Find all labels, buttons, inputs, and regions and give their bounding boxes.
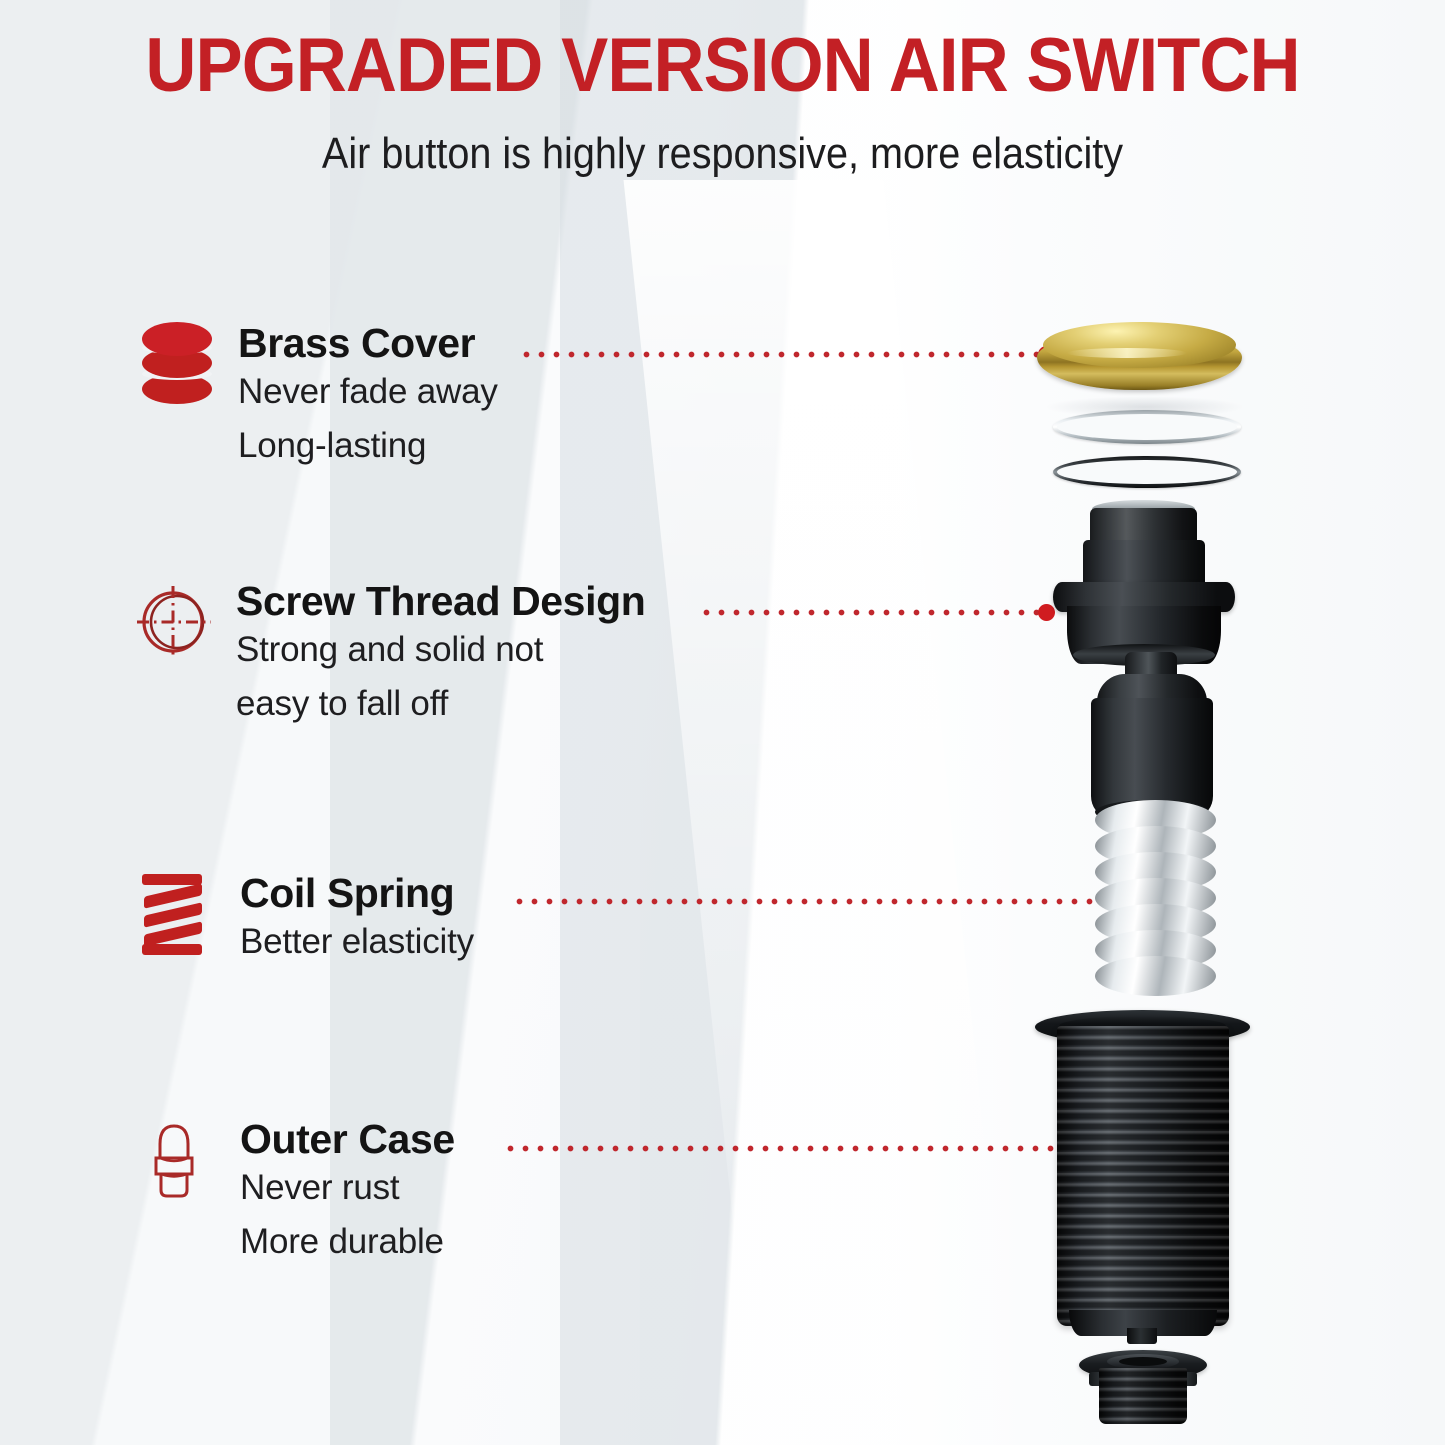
- brass-cover-highlight: [1067, 348, 1187, 358]
- disc-stack-icon: [138, 322, 216, 406]
- silver-washer-ring-part: [1053, 410, 1241, 444]
- bottom-thread-nut-shank: [1099, 1368, 1187, 1424]
- background-light-beam: [624, 180, 1017, 1445]
- feature-title: Brass Cover: [238, 322, 498, 365]
- leader-line-outer-case: [503, 1144, 1068, 1153]
- leader-line-brass-cover: [519, 350, 1044, 359]
- leader-line-screw-thread: [699, 608, 1044, 617]
- dark-gasket-ring-part: [1053, 456, 1241, 488]
- feature-line: Strong and solid not: [236, 623, 645, 677]
- page-title: UPGRADED VERSION AIR SWITCH: [51, 26, 1395, 106]
- infographic-page: UPGRADED VERSION AIR SWITCH Air button i…: [0, 0, 1445, 1445]
- screw-nut-body: [1083, 540, 1205, 588]
- feature-line: More durable: [240, 1215, 455, 1269]
- feature-line: Long-lasting: [238, 419, 498, 473]
- outer-case-stub: [1127, 1328, 1157, 1344]
- feature-line: Never fade away: [238, 365, 498, 419]
- feature-title: Outer Case: [240, 1118, 455, 1161]
- feature-outer-case: Outer Case Never rust More durable: [140, 1118, 455, 1270]
- feature-screw-thread: Screw Thread Design Strong and solid not…: [136, 580, 645, 732]
- coil-spring-icon: [140, 872, 218, 956]
- crosshair-target-icon: [136, 580, 214, 664]
- outer-case-part: [1057, 1026, 1229, 1326]
- bottom-thread-nut-bore: [1119, 1357, 1167, 1366]
- outer-case-icon: [140, 1118, 218, 1202]
- feature-coil-spring: Coil Spring Better elasticity: [140, 872, 474, 969]
- feature-line: Better elasticity: [240, 915, 474, 969]
- brass-cover-dome: [1043, 322, 1236, 368]
- feature-brass-cover: Brass Cover Never fade away Long-lasting: [138, 322, 498, 474]
- product-exploded-view: [1015, 300, 1290, 1430]
- feature-title: Coil Spring: [240, 872, 474, 915]
- feature-line: easy to fall off: [236, 677, 645, 731]
- feature-title: Screw Thread Design: [236, 580, 645, 623]
- feature-line: Never rust: [240, 1161, 455, 1215]
- coil-spring-part: [1095, 800, 1210, 1005]
- page-subtitle: Air button is highly responsive, more el…: [72, 129, 1373, 179]
- plunger-cap-part: [1091, 698, 1213, 816]
